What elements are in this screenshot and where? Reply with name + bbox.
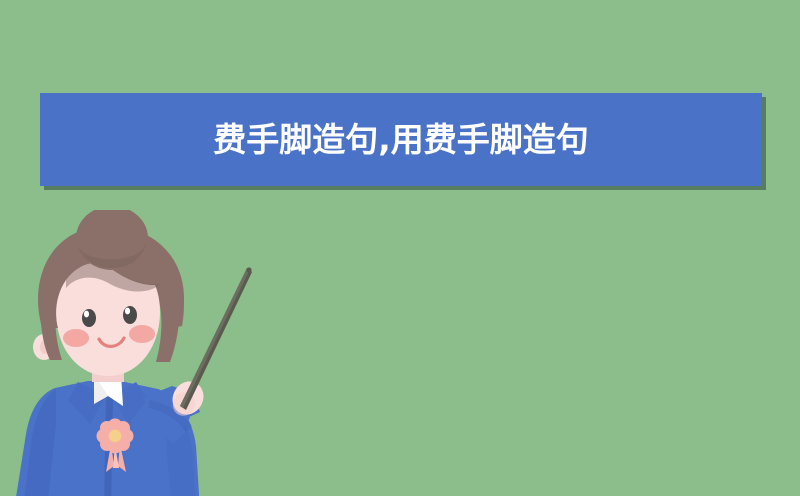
teacher-illustration bbox=[0, 210, 260, 496]
page-canvas: 费手脚造句,用费手脚造句 bbox=[0, 0, 800, 496]
page-title: 费手脚造句,用费手脚造句 bbox=[213, 123, 589, 156]
right-eye bbox=[123, 306, 137, 324]
right-blush bbox=[129, 325, 155, 343]
left-eye bbox=[82, 309, 96, 327]
left-blush bbox=[63, 329, 89, 347]
title-banner: 费手脚造句,用费手脚造句 bbox=[40, 93, 762, 186]
pointer-stick bbox=[180, 267, 252, 410]
